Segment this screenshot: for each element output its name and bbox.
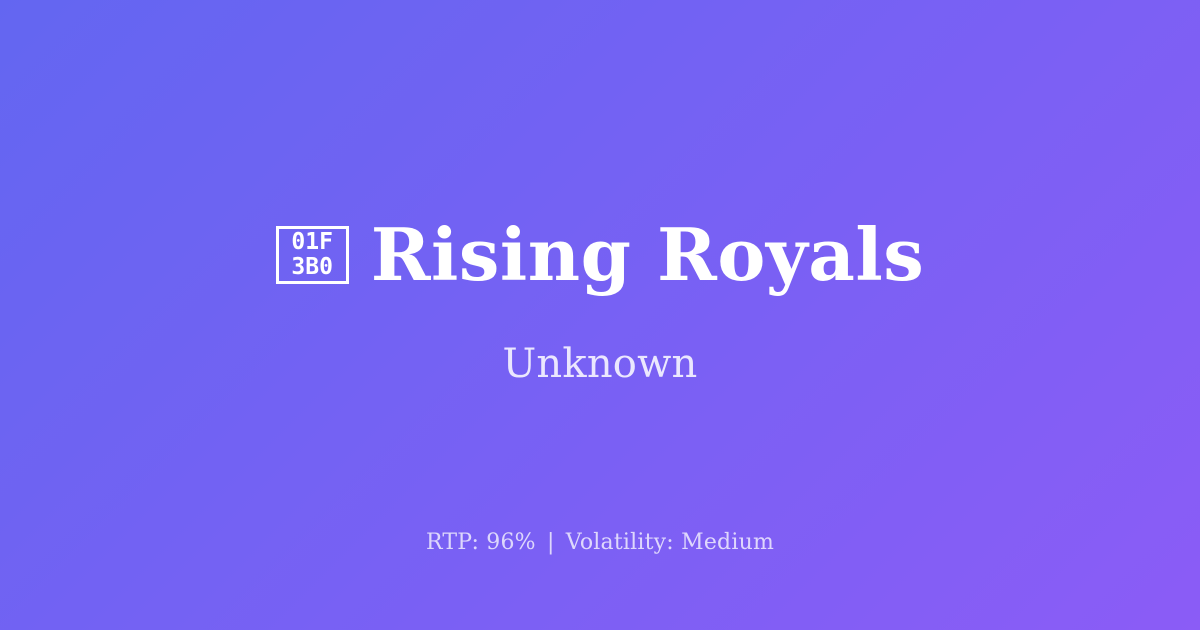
tofu-hex-bottom: 3B0: [291, 255, 333, 280]
game-og-card: 01F 3B0 Rising Royals Unknown RTP: 96% |…: [0, 0, 1200, 630]
game-meta-line: RTP: 96% | Volatility: Medium: [0, 529, 1200, 557]
rtp-label: RTP:: [426, 530, 479, 555]
slot-machine-icon: 01F 3B0: [276, 226, 349, 284]
meta-separator: |: [543, 530, 559, 555]
hero-group: 01F 3B0 Rising Royals Unknown: [0, 216, 1200, 388]
volatility-label: Volatility:: [566, 530, 674, 555]
rtp-value: 96%: [486, 530, 536, 555]
title-row: 01F 3B0 Rising Royals: [0, 216, 1200, 294]
volatility-value: Medium: [681, 530, 774, 555]
game-provider-subtitle: Unknown: [503, 340, 698, 388]
tofu-hex-top: 01F: [291, 230, 333, 255]
page-title: Rising Royals: [371, 216, 925, 294]
